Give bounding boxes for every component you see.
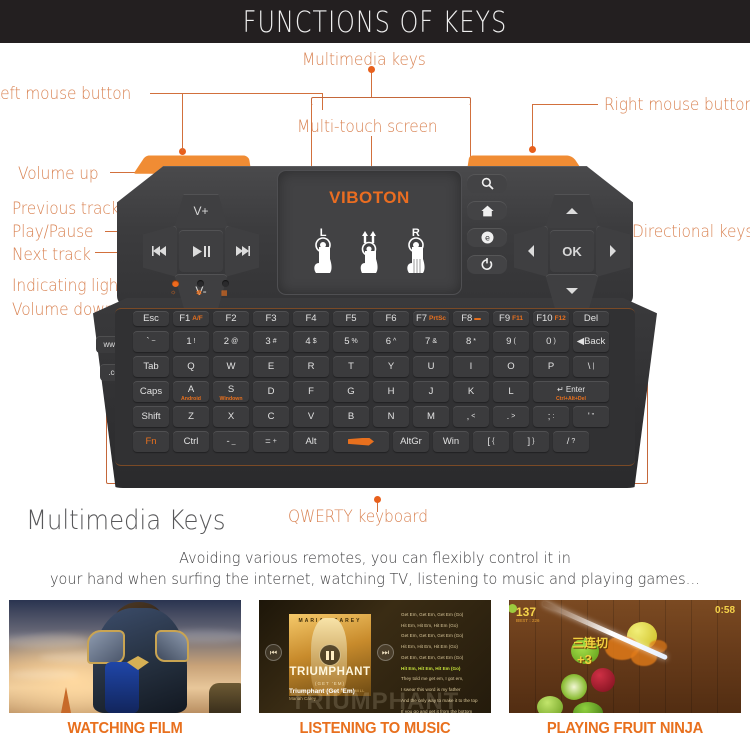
key-tab[interactable]: Tab [133,356,169,377]
key-f4[interactable]: F4 [293,311,329,326]
key-shift-label: ) [553,338,555,345]
key-label: F [308,386,314,397]
key-label: S [228,384,234,395]
key-shift-label: ~ [152,338,156,345]
combo-points: +3 [577,652,592,667]
key-r[interactable]: R [293,356,329,377]
key-label: . [507,411,510,422]
lyric-line: They told me get em, I got em, [401,676,487,682]
album-title: TRIUMPHANT [289,666,371,678]
home-house-icon [481,205,494,217]
key-label: F1 [179,313,190,324]
key-label: U [428,361,435,372]
key-fn-label: ▬ [474,315,481,322]
key-shift-label: @ [231,338,238,345]
key-label: ◀Back [577,336,605,347]
play-pause-icon [191,246,211,257]
usecase-card-playing-fruit-ninja[interactable]: 137 BEST : 226 0:58 三连切 +3 P [509,600,741,738]
mm-key-home[interactable] [467,201,507,220]
key--[interactable]: ;: [533,406,569,427]
music-player-ui: ⏮ ⏭ MARIAH CAREY TRIUMPHANT (GET 'EM) FE… [259,600,491,713]
callout-left-mouse-button: Left mouse button [0,84,131,103]
key-n[interactable]: N [373,406,409,427]
key-shift-label: ! [194,338,196,345]
gesture-left-label: L [306,227,340,239]
key-label: 1 [186,336,191,347]
game-score-best: BEST : 226 [516,618,540,623]
leader-multimedia [371,70,372,98]
key-label: F3 [265,313,276,324]
key-x[interactable]: X [213,406,249,427]
key-1[interactable]: 1! [173,331,209,352]
prev-button-icon[interactable]: ⏮ [265,644,282,661]
game-timer: 0:58 [715,605,735,616]
dpad-down-key[interactable] [545,274,599,308]
key-i[interactable]: I [453,356,489,377]
key-label: 7 [425,336,430,347]
key-shift-label: > [511,413,515,420]
power-standby-icon [481,258,493,271]
key--[interactable]: ,< [453,406,489,427]
lyric-line: Get Em, Get Em, Get Em (Go) [401,655,487,661]
key-win[interactable]: Win [433,431,469,452]
key-space-bar-icon[interactable] [333,431,389,452]
indicator-light-2 [197,280,204,287]
lyric-line: Get Em, Get Em, Get Em (Go) [401,633,487,639]
key-label: , [467,411,470,422]
key-label: Ctrl [184,436,199,447]
key-label: F8 [461,313,472,324]
key-f9[interactable]: F9F11 [493,311,529,326]
key-label: G [347,386,354,397]
mm-key-standby[interactable] [467,255,507,274]
key-label: Del [584,313,598,324]
background-figure [209,683,241,713]
section-title-multimedia-keys: Multimedia Keys [26,505,226,536]
movie-scene-art [9,600,241,713]
next-button-icon[interactable]: ⏭ [377,644,394,661]
description-line-1: Avoiding various remotes, you can flexib… [26,548,724,569]
key-fn[interactable]: Fn [133,431,169,452]
key-label: P [548,361,554,372]
key-a[interactable]: AAndroid [173,381,209,402]
key-g[interactable]: G [333,381,369,402]
mm-key-browser[interactable]: e [467,228,507,247]
indicator-light-1 [172,280,179,287]
svg-text:e: e [485,234,490,243]
album-artwork: MARIAH CAREY TRIUMPHANT (GET 'EM) FEAT. … [289,614,371,696]
fruit-cherry [591,668,615,692]
key-label: \ [588,361,591,372]
caption-playing-fruit-ninja: PLAYING FRUIT NINJA [515,720,735,738]
key-4[interactable]: 4$ [293,331,329,352]
key-t[interactable]: T [333,356,369,377]
key--[interactable]: \| [573,356,609,377]
lyric-line: Hit Em, Hit Em, Hit Em (Go) [401,623,487,629]
lyric-line: Hit Em, Hit Em, Hit Em (Go) [401,644,487,650]
castle-spire [61,687,71,713]
key-d[interactable]: D [253,381,289,402]
key-label: 3 [265,336,270,347]
directional-dpad: OK [512,192,632,310]
key-label: F10 [536,313,552,324]
key-5[interactable]: 5% [333,331,369,352]
key-p[interactable]: P [533,356,569,377]
key-label: [ [488,436,491,447]
key--[interactable]: [{ [473,431,509,452]
key-label: ; [548,411,551,422]
key-shift-label: % [352,338,358,345]
key-shift-label: : [552,413,554,420]
callout-right-mouse-button: Right mouse button [604,95,750,114]
key-label: = [265,436,271,447]
key-label: J [429,386,434,397]
key-j[interactable]: J [413,381,449,402]
next-track-key[interactable] [225,225,259,277]
key-h[interactable]: H [373,381,409,402]
key-fn-label: A/F [192,315,202,322]
key-label: M [427,411,435,422]
key-label: ` [146,336,149,347]
next-track-icon [234,246,250,256]
key-u[interactable]: U [413,356,449,377]
key-shift[interactable]: Shift [133,406,169,427]
lyric-line: Hit Em, Hit Em, Hit Em (Go) [401,666,487,672]
caption-listening-to-music: LISTENING TO MUSIC [265,720,485,738]
arrow-right-icon [609,244,617,258]
previous-track-key[interactable] [143,225,177,277]
key-label: L [508,386,513,397]
usecase-card-row: WATCHING FILM ⏮ ⏭ MARIAH CAREY TRIUMPHAN… [0,600,750,750]
key--enter[interactable]: ↵ EnterCtrl+Alt+Del [533,381,609,402]
key--[interactable]: /? [553,431,589,452]
key-k[interactable]: K [453,381,489,402]
leader-right-mouse [532,104,598,105]
key-f8[interactable]: F8▬ [453,311,489,326]
hero-cape [105,662,139,713]
dpad-left-key[interactable] [514,225,548,277]
key-label: F5 [345,313,356,324]
key-y[interactable]: Y [373,356,409,377]
key-label: 8 [466,336,471,347]
qwerty-keyboard: EscF1A/FF2F3F4F5F6F7PrtScF8▬F9F11F10F12D… [115,308,635,466]
key-altgr[interactable]: AltGr [393,431,429,452]
key-f[interactable]: F [293,381,329,402]
key-f2[interactable]: F2 [213,311,249,326]
key-label: Win [443,436,459,447]
gesture-right-click: R [399,229,433,283]
dot-multimedia [368,66,375,73]
key-caps[interactable]: Caps [133,381,169,402]
key-label: ' [588,411,590,422]
key--[interactable]: '" [573,406,609,427]
key-c[interactable]: C [253,406,289,427]
key-shift-label: | [592,363,594,370]
key-shift-label: ( [513,338,515,345]
key-label: AltGr [400,436,422,447]
key-fn-label: F12 [555,315,566,322]
hand-scroll-updown-icon [352,229,386,279]
touchpad-gesture-row: L R [278,229,461,283]
arrow-down-icon [565,287,579,295]
key-label: Shift [141,411,160,422]
leader-left-mouse [150,93,323,94]
key-2[interactable]: 2@ [213,331,249,352]
arrow-left-icon [527,244,535,258]
key-label: A [188,384,194,395]
key-sub-label: Android [173,396,209,402]
key-f1[interactable]: F1A/F [173,311,209,326]
key-label: V [308,411,314,422]
key--[interactable]: ]} [513,431,549,452]
key-s[interactable]: SWindown [213,381,249,402]
mm-key-search[interactable] [467,174,507,193]
caption-watching-film: WATCHING FILM [15,720,235,738]
key-shift-label: + [273,438,277,445]
key-label: Alt [305,436,316,447]
album-subtitle: (GET 'EM) [289,681,371,686]
key-f7[interactable]: F7PrtSc [413,311,449,326]
key-b[interactable]: B [333,406,369,427]
dpad-ok-key[interactable]: OK [550,230,594,272]
key-label: R [308,361,315,372]
key-3[interactable]: 3# [253,331,289,352]
volume-up-key[interactable]: V+ [174,194,228,228]
key-shift-label: # [273,338,277,345]
description-line-2: your hand when surfing the internet, wat… [26,569,724,590]
key-shift-label: & [432,338,437,345]
key-label: / [567,436,570,447]
prev-track-icon [152,246,168,256]
key-label: Caps [140,386,162,397]
search-magnifier-icon [481,177,494,190]
bracket-multimedia-column [311,97,471,105]
key-label: I [470,361,473,372]
usecase-card-listening-to-music[interactable]: ⏮ ⏭ MARIAH CAREY TRIUMPHANT (GET 'EM) FE… [259,600,491,738]
key-v[interactable]: V [293,406,329,427]
key-f10[interactable]: F10F12 [533,311,569,326]
lyric-line: Get Em, Get Em, Get Em (Go) [401,612,487,618]
key--back[interactable]: ◀Back [573,331,609,352]
key-7[interactable]: 7& [413,331,449,352]
key-label: Tab [143,361,158,372]
section-description: Avoiding various remotes, you can flexib… [26,548,724,590]
key-label: Y [388,361,394,372]
key-label: W [227,361,236,372]
key-label: - [226,436,229,447]
indicator-icon-3: ▦ [221,289,228,297]
key-label: O [507,361,514,372]
key-shift-label: } [532,438,534,445]
key-label: 5 [344,336,349,347]
space-bar-icon [348,438,374,446]
key-label: 2 [224,336,229,347]
key-label: 0 [546,336,551,347]
key-e[interactable]: E [253,356,289,377]
dpad-right-key[interactable] [596,225,630,277]
key-sub-label: Windown [213,396,249,402]
key-f6[interactable]: F6 [373,311,409,326]
key-label: 6 [386,336,391,347]
key-label: C [268,411,275,422]
callout-multi-touch-screen: Multi-touch screen [297,117,438,136]
arrow-up-icon [565,207,579,215]
browser-e-icon: e [481,231,494,244]
key-shift-label: " [592,413,595,420]
callout-qwerty-keyboard: QWERTY keyboard [288,507,428,526]
touchpad-brand-logo: VIBOTON [278,188,461,208]
key-label: N [388,411,395,422]
key-l[interactable]: L [493,381,529,402]
key-label: F9 [499,313,510,324]
indicator-light-3 [222,280,229,287]
key-del[interactable]: Del [573,311,609,326]
key--[interactable]: .> [493,406,529,427]
key-shift-label: $ [313,338,317,345]
key-label: ↵ Enter [557,385,585,394]
key-shift-label: < [471,413,475,420]
game-score: 137 [516,605,536,619]
pause-button-icon[interactable] [319,644,341,666]
key-ctrl[interactable]: Ctrl [173,431,209,452]
key-9[interactable]: 9( [493,331,529,352]
multi-touch-screen[interactable]: VIBOTON L [277,170,462,295]
key-sub-label: Ctrl+Alt+Del [533,396,609,402]
key--[interactable]: `~ [133,331,169,352]
hero-pauldron-right [155,630,189,662]
key-label: X [228,411,234,422]
multimedia-right-column: e [467,174,507,282]
hero-pauldron-left [87,630,125,664]
key-shift-label: { [492,438,494,445]
fruit-kiwi [561,674,587,700]
key-m[interactable]: M [413,406,449,427]
key-label: F6 [385,313,396,324]
key-label: E [268,361,274,372]
page-root: FUNCTIONS OF KEYS Multimedia keys Left m… [0,0,750,750]
key-shift-label: ^ [393,338,396,345]
key-label: 9 [506,336,511,347]
key-label: K [468,386,474,397]
callout-multimedia-keys: Multimedia keys [302,50,426,69]
key-f3[interactable]: F3 [253,311,289,326]
key-w[interactable]: W [213,356,249,377]
key-shift-label: ? [571,438,575,445]
key-fn-label: F11 [512,315,523,322]
keyboard-device: V+ V- [75,140,675,500]
gesture-right-label: R [399,227,433,239]
key-esc[interactable]: Esc [133,311,169,326]
fruit-apple-green [537,696,563,713]
key-0[interactable]: 0) [533,331,569,352]
key-label: ] [528,436,531,447]
thumb-playing-fruit-ninja: 137 BEST : 226 0:58 三连切 +3 [509,600,741,713]
fruit-ninja-game-art: 137 BEST : 226 0:58 三连切 +3 [509,600,741,713]
play-pause-key[interactable] [179,230,223,272]
key-q[interactable]: Q [173,356,209,377]
usecase-card-watching-film[interactable]: WATCHING FILM [9,600,241,738]
key-label: 4 [305,336,310,347]
key-label: B [348,411,354,422]
gesture-scroll [352,229,386,283]
key-f5[interactable]: F5 [333,311,369,326]
key-shift-label: * [473,338,476,345]
thumb-watching-film [9,600,241,713]
key-alt[interactable]: Alt [293,431,329,452]
indicator-icon-2: ✽ [196,289,202,297]
dpad-up-key[interactable] [545,194,599,228]
key-label: D [268,386,275,397]
key-label: Z [188,411,194,422]
page-header-bar: FUNCTIONS OF KEYS [0,0,750,43]
page-title: FUNCTIONS OF KEYS [68,0,683,43]
key-label: Q [187,361,194,372]
album-watermark: TRIUMPHANT [259,688,491,713]
key-label: H [388,386,395,397]
fruit-watermelon [573,702,603,713]
key-z[interactable]: Z [173,406,209,427]
thumb-listening-to-music: ⏮ ⏭ MARIAH CAREY TRIUMPHANT (GET 'EM) FE… [259,600,491,713]
key-label: T [348,361,354,372]
combo-text: 三连切 [572,634,608,651]
key-label: Fn [145,436,156,447]
key-shift-label: _ [232,438,236,445]
key-fn-label: PrtSc [429,315,446,322]
indicator-icon-1: ☼ [170,289,176,296]
key--[interactable]: =+ [253,431,289,452]
key-8[interactable]: 8* [453,331,489,352]
key-6[interactable]: 6^ [373,331,409,352]
key-o[interactable]: O [493,356,529,377]
key--[interactable]: -_ [213,431,249,452]
key-label: F4 [305,313,316,324]
key-label: Esc [143,313,159,324]
key-label: F7 [416,313,427,324]
key-label: F2 [225,313,236,324]
gesture-left-click: L [306,229,340,283]
